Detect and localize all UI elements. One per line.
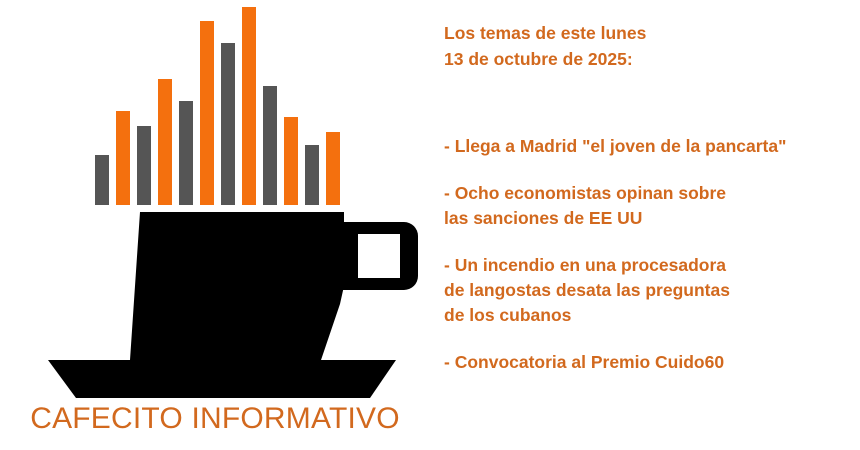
chart-bar	[137, 126, 151, 205]
cup-handle-hole	[358, 234, 400, 278]
cafecito-informativo-graphic: CAFECITO INFORMATIVO Los temas de este l…	[0, 0, 860, 450]
cup-saucer	[48, 360, 396, 398]
logo-panel: CAFECITO INFORMATIVO	[0, 0, 430, 450]
brand-title: CAFECITO INFORMATIVO	[0, 402, 430, 436]
chart-bar	[179, 101, 193, 205]
chart-bar	[200, 21, 214, 205]
topics-panel: Los temas de este lunes 13 de octubre de…	[444, 0, 860, 450]
cup-body	[130, 212, 353, 360]
chart-bar	[326, 132, 340, 205]
chart-bar	[305, 145, 319, 205]
chart-bar	[263, 86, 277, 205]
chart-bar	[116, 111, 130, 205]
headline-date: Los temas de este lunes 13 de octubre de…	[444, 20, 860, 72]
list-item: - Ocho economistas opinan sobre las sanc…	[444, 181, 860, 231]
list-item: - Convocatoria al Premio Cuido60	[444, 350, 860, 375]
chart-bar	[284, 117, 298, 205]
coffee-cup-icon	[40, 200, 440, 405]
list-item: - Llega a Madrid "el joven de la pancart…	[444, 134, 860, 159]
chart-bar	[221, 43, 235, 205]
coffee-cup-svg	[40, 200, 440, 405]
topics-list: - Llega a Madrid "el joven de la pancart…	[444, 134, 860, 397]
bar-chart	[95, 0, 340, 205]
list-item: - Un incendio en una procesadora de lang…	[444, 253, 860, 328]
chart-bar	[242, 7, 256, 205]
chart-bar	[95, 155, 109, 205]
chart-bar	[158, 79, 172, 205]
